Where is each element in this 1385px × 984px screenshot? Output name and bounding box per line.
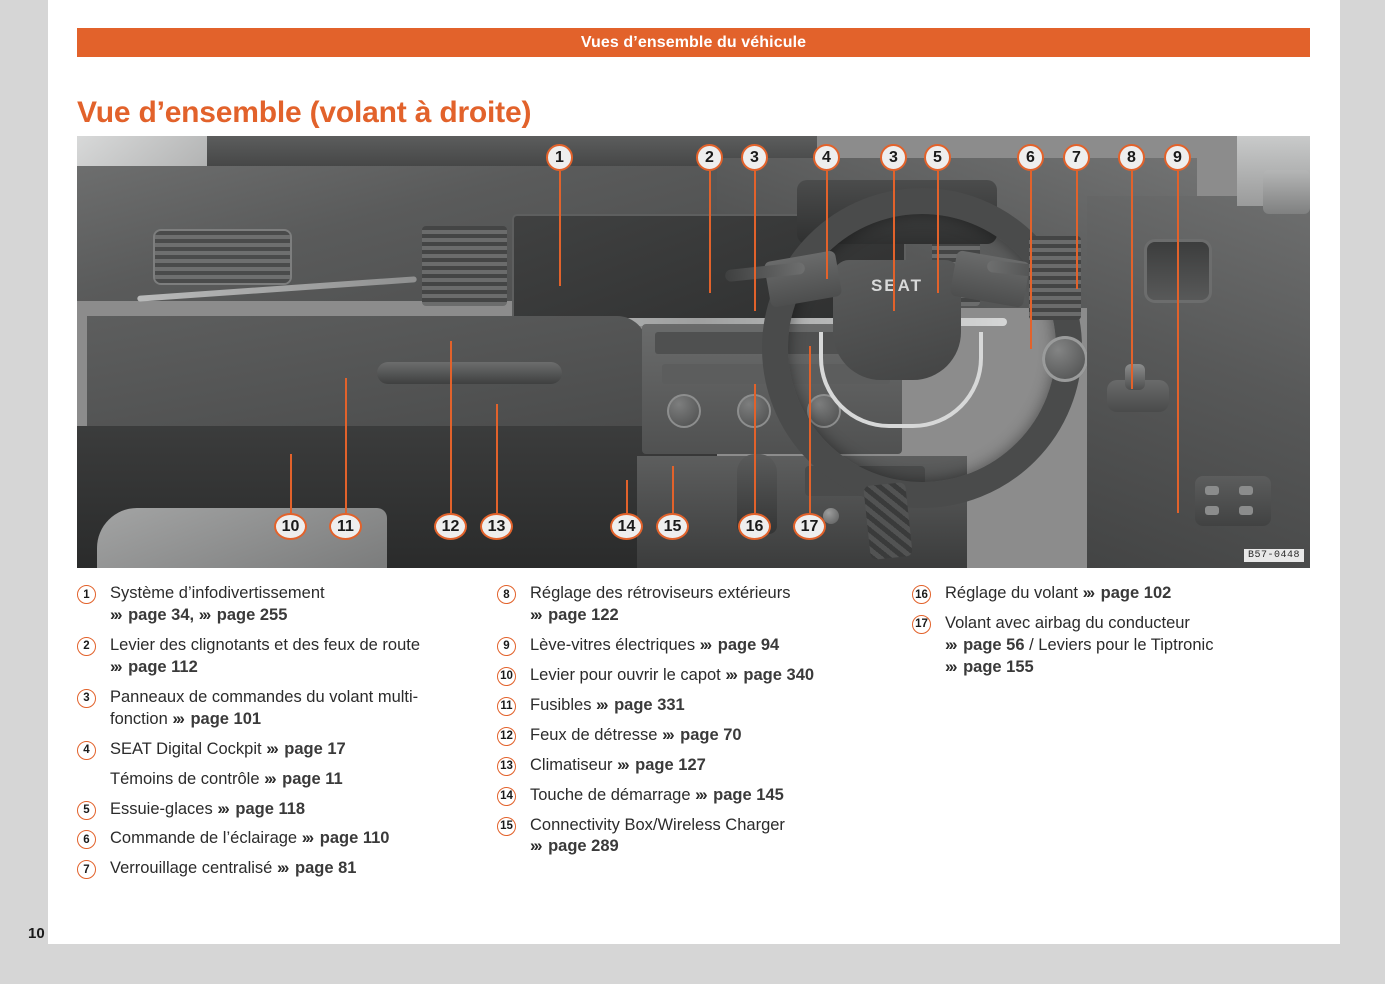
legend-number-badge-1: 1 (77, 585, 96, 604)
page-reference-link[interactable]: ››› page 81 (277, 859, 357, 877)
climate-knob-left (667, 394, 701, 428)
chevron-right-icon: ››› (617, 756, 627, 774)
chevron-right-icon: ››› (110, 658, 120, 676)
page-reference-link[interactable]: ››› page 122 (530, 606, 619, 624)
running-head-title: Vues d’ensemble du véhicule (581, 34, 806, 52)
legend-label: Climatiseur (530, 756, 617, 774)
callout-leader-line (672, 466, 674, 513)
legend-text-line: Réglage des rétroviseurs extérieurs (530, 583, 790, 605)
page-reference-link[interactable]: ››› page 340 (725, 666, 814, 684)
legend-text-line: fonction ››› page 101 (110, 709, 418, 731)
legend-label: Levier des clignotants et des feux de ro… (110, 636, 420, 654)
legend-number-badge-17: 17 (912, 615, 931, 634)
legend-number-placeholder (77, 771, 96, 790)
legend-item-14[interactable]: 14Touche de démarrage ››› page 145 (497, 785, 912, 807)
legend-text-line: Essuie-glaces ››› page 118 (110, 799, 305, 821)
legend-label: Levier pour ouvrir le capot (530, 666, 725, 684)
legend-text-line: Levier pour ouvrir le capot ››› page 340 (530, 665, 814, 687)
legend-item-1[interactable]: 1Système d’infodivertissement››› page 34… (77, 583, 497, 627)
legend-text-line: ››› page 122 (530, 605, 790, 627)
chevron-right-icon: ››› (530, 606, 540, 624)
window-switch-panel (1195, 476, 1271, 526)
page-number: 10 (28, 925, 45, 942)
legend-label: Touche de démarrage (530, 786, 695, 804)
legend-text-line: Climatiseur ››› page 127 (530, 755, 706, 777)
callout-leader-line (1131, 171, 1133, 389)
photo-callout-2-top: 2 (696, 144, 723, 171)
page-reference-link[interactable]: ››› page 118 (217, 800, 305, 818)
legend-item-6[interactable]: 6Commande de l’éclairage ››› page 110 (77, 828, 497, 850)
legend-label: Panneaux de commandes du volant multi- (110, 688, 418, 706)
legend-item-17[interactable]: 17Volant avec airbag du conducteur››› pa… (912, 613, 1310, 679)
legend-item-9[interactable]: 9Lève-vitres électriques ››› page 94 (497, 635, 912, 657)
chevron-right-icon: ››› (945, 636, 955, 654)
legend-label: Feux de détresse (530, 726, 662, 744)
legend-label: Réglage du volant (945, 584, 1083, 602)
start-button-icon (823, 508, 839, 524)
legend-number-badge-10: 10 (497, 667, 516, 686)
legend-label: Système d’infodivertissement (110, 584, 325, 602)
legend-text-line: SEAT Digital Cockpit ››› page 17 (110, 739, 346, 761)
legend-item-4[interactable]: 4SEAT Digital Cockpit ››› page 17 (77, 739, 497, 761)
legend-item-text: Feux de détresse ››› page 70 (530, 725, 742, 747)
legend-item-text: Réglage du volant ››› page 102 (945, 583, 1171, 605)
glovebox-handle (377, 362, 562, 384)
photo-callout-16-bottom: 16 (738, 513, 771, 540)
legend-number-badge-9: 9 (497, 637, 516, 656)
legend-text-line: ››› page 34, ››› page 255 (110, 605, 325, 627)
photo-callout-3-top: 3 (741, 144, 768, 171)
legend-item-text: Volant avec airbag du conducteur››› page… (945, 613, 1213, 679)
page-reference-link[interactable]: ››› page 101 (172, 710, 261, 728)
photo-callout-10-bottom: 10 (274, 513, 307, 540)
air-vent-right-icon (1029, 236, 1081, 320)
legend-item-15[interactable]: 15Connectivity Box/Wireless Charger››› p… (497, 815, 912, 859)
chevron-right-icon: ››› (945, 658, 955, 676)
chevron-right-icon: ››› (266, 740, 276, 758)
photo-callout-8-top: 8 (1118, 144, 1145, 171)
page-reference-link[interactable]: ››› page 34, (110, 606, 194, 624)
photo-callout-15-bottom: 15 (656, 513, 689, 540)
photo-callout-14-bottom: 14 (610, 513, 643, 540)
chevron-right-icon: ››› (217, 800, 227, 818)
legend-item-13[interactable]: 13Climatiseur ››› page 127 (497, 755, 912, 777)
callout-leader-line (1177, 171, 1179, 513)
callout-leader-line (496, 404, 498, 513)
legend-item-text: Commande de l’éclairage ››› page 110 (110, 828, 389, 850)
legend-item-text: Lève-vitres électriques ››› page 94 (530, 635, 779, 657)
legend-number-badge-13: 13 (497, 757, 516, 776)
legend-column-1: 1Système d’infodivertissement››› page 34… (77, 583, 497, 888)
legend-text-line: Panneaux de commandes du volant multi- (110, 687, 418, 709)
mirror-adjust-knob (1125, 364, 1145, 390)
callout-leader-line (345, 378, 347, 513)
legend-number-badge-15: 15 (497, 817, 516, 836)
chevron-right-icon: ››› (725, 666, 735, 684)
legend-item-text: Climatiseur ››› page 127 (530, 755, 706, 777)
legend-item-text: Système d’infodivertissement››› page 34,… (110, 583, 325, 627)
callout-leader-line (626, 480, 628, 513)
page-reference-link[interactable]: ››› page 331 (596, 696, 685, 714)
legend-label: Réglage des rétroviseurs extérieurs (530, 584, 790, 602)
legend-text-line: ››› page 155 (945, 657, 1213, 679)
legend-item-10[interactable]: 10Levier pour ouvrir le capot ››› page 3… (497, 665, 912, 687)
callout-leader-line (709, 171, 711, 293)
legend-item-text: Témoins de contrôle ››› page 11 (110, 769, 343, 791)
legend-item-text: Touche de démarrage ››› page 145 (530, 785, 784, 807)
photo-callout-6-top: 6 (1017, 144, 1044, 171)
legend-item-continuation[interactable]: Témoins de contrôle ››› page 11 (77, 769, 497, 791)
photo-callout-5-top: 5 (924, 144, 951, 171)
page-reference-link[interactable]: ››› page 110 (302, 829, 390, 847)
legend-text-line: Commande de l’éclairage ››› page 110 (110, 828, 389, 850)
legend-label: Verrouillage centralisé (110, 859, 277, 877)
legend-item-text: Levier des clignotants et des feux de ro… (110, 635, 420, 679)
legend-label: SEAT Digital Cockpit (110, 740, 266, 758)
chevron-right-icon: ››› (277, 859, 287, 877)
legend-text-line: Connectivity Box/Wireless Charger (530, 815, 785, 837)
legend-text-line: Levier des clignotants et des feux de ro… (110, 635, 420, 657)
callout-leader-line (1030, 171, 1032, 349)
legend-label: Volant avec airbag du conducteur (945, 614, 1190, 632)
legend-column-2: 8Réglage des rétroviseurs extérieurs››› … (497, 583, 912, 888)
callout-leader-line (809, 346, 811, 513)
legend-number-badge-8: 8 (497, 585, 516, 604)
legend-label: Commande de l’éclairage (110, 829, 302, 847)
pedal (863, 482, 913, 560)
page-reference-link[interactable]: ››› page 94 (700, 636, 780, 654)
chevron-right-icon: ››› (700, 636, 710, 654)
legend-label-tail: / Leviers pour le Tiptronic (1025, 636, 1214, 654)
page-reference-link[interactable]: ››› page 11 (264, 770, 343, 788)
chevron-right-icon: ››› (1083, 584, 1093, 602)
legend-item-text: Connectivity Box/Wireless Charger››› pag… (530, 815, 785, 859)
legend-item-text: Panneaux de commandes du volant multi-fo… (110, 687, 418, 731)
legend-item-2[interactable]: 2Levier des clignotants et des feux de r… (77, 635, 497, 679)
photo-callout-11-bottom: 11 (329, 513, 362, 540)
window-switch-1 (1205, 486, 1219, 495)
callout-leader-line (290, 454, 292, 513)
exterior-mirror (1263, 170, 1310, 214)
window-switch-3 (1205, 506, 1219, 515)
seat-logo: SEAT (865, 276, 929, 298)
callout-leader-line (826, 171, 828, 279)
photo-artwork: SEAT (77, 136, 1310, 568)
legend-number-badge-3: 3 (77, 689, 96, 708)
legend-number-badge-14: 14 (497, 787, 516, 806)
legend-item-5[interactable]: 5Essuie-glaces ››› page 118 (77, 799, 497, 821)
page-reference-link[interactable]: ››› page 145 (695, 786, 784, 804)
page-reference-link[interactable]: ››› page 155 (945, 658, 1034, 676)
legend-text-line: Feux de détresse ››› page 70 (530, 725, 742, 747)
legend-number-badge-6: 6 (77, 830, 96, 849)
legend-label: Fusibles (530, 696, 596, 714)
running-head-bar: Vues d’ensemble du véhicule (77, 28, 1310, 57)
legend-item-12[interactable]: 12Feux de détresse ››› page 70 (497, 725, 912, 747)
legend-item-text: Levier pour ouvrir le capot ››› page 340 (530, 665, 814, 687)
photo-callout-1-top: 1 (546, 144, 573, 171)
chevron-right-icon: ››› (530, 837, 540, 855)
legend-label: Témoins de contrôle (110, 770, 264, 788)
legend-number-badge-7: 7 (77, 860, 96, 879)
page-reference-link[interactable]: ››› page 112 (110, 658, 198, 676)
legend-item-text: SEAT Digital Cockpit ››› page 17 (110, 739, 346, 761)
legend-text-line: Réglage du volant ››› page 102 (945, 583, 1171, 605)
legend-number-badge-2: 2 (77, 637, 96, 656)
legend-label: Connectivity Box/Wireless Charger (530, 816, 785, 834)
page-title: Vue d’ensemble (volant à droite) (77, 96, 531, 130)
legend-number-badge-4: 4 (77, 741, 96, 760)
callout-leader-line (937, 171, 939, 293)
legend-text-line: Verrouillage centralisé ››› page 81 (110, 858, 356, 880)
photo-callout-4-top: 4 (813, 144, 840, 171)
glovebox (87, 316, 647, 436)
chevron-right-icon: ››› (596, 696, 606, 714)
legend-item-text: Fusibles ››› page 331 (530, 695, 685, 717)
callout-leader-line (893, 171, 895, 311)
callout-leader-line (754, 384, 756, 513)
legend-text-line: ››› page 56 / Leviers pour le Tiptronic (945, 635, 1213, 657)
callout-leader-line (1076, 171, 1078, 289)
photo-reference-code: B57-0448 (1244, 549, 1304, 562)
air-vent-left-icon (155, 231, 290, 283)
page-reference-link[interactable]: ››› page 70 (662, 726, 742, 744)
legend: 1Système d’infodivertissement››› page 34… (77, 583, 1310, 888)
page-reference-link[interactable]: ››› page 102 (1083, 584, 1172, 602)
chevron-right-icon: ››› (695, 786, 705, 804)
legend-label: fonction (110, 710, 172, 728)
chevron-right-icon: ››› (302, 829, 312, 847)
chevron-right-icon: ››› (662, 726, 672, 744)
light-switch-knob (1042, 336, 1088, 382)
legend-text-line: Lève-vitres électriques ››› page 94 (530, 635, 779, 657)
legend-label: Essuie-glaces (110, 800, 217, 818)
legend-text-line: ››› page 289 (530, 836, 785, 858)
photo-callout-13-bottom: 13 (480, 513, 513, 540)
callout-leader-line (754, 171, 756, 311)
legend-item-text: Verrouillage centralisé ››› page 81 (110, 858, 356, 880)
window-switch-2 (1239, 486, 1253, 495)
page-reference-link[interactable]: ››› page 56 (945, 636, 1025, 654)
photo-callout-17-bottom: 17 (793, 513, 826, 540)
legend-item-text: Essuie-glaces ››› page 118 (110, 799, 305, 821)
legend-text-line: Touche de démarrage ››› page 145 (530, 785, 784, 807)
legend-number-badge-5: 5 (77, 801, 96, 820)
page-reference-link[interactable]: ››› page 127 (617, 756, 706, 774)
page-reference-link[interactable]: ››› page 17 (266, 740, 346, 758)
photo-callout-12-bottom: 12 (434, 513, 467, 540)
window-switch-4 (1239, 506, 1253, 515)
photo-callout-7-top: 7 (1063, 144, 1090, 171)
legend-item-3[interactable]: 3Panneaux de commandes du volant multi-f… (77, 687, 497, 731)
legend-number-badge-12: 12 (497, 727, 516, 746)
callout-leader-line (559, 171, 561, 286)
legend-text-line: Témoins de contrôle ››› page 11 (110, 769, 343, 791)
vehicle-interior-photo: SEAT B57-0448 12343567891011121314151617 (77, 136, 1310, 568)
legend-item-8[interactable]: 8Réglage des rétroviseurs extérieurs››› … (497, 583, 912, 627)
legend-number-badge-11: 11 (497, 697, 516, 716)
legend-text-line: ››› page 112 (110, 657, 420, 679)
chevron-right-icon: ››› (110, 606, 120, 624)
legend-column-3: 16Réglage du volant ››› page 10217Volant… (912, 583, 1310, 888)
photo-callout-3-top: 3 (880, 144, 907, 171)
page-sheet: Vues d’ensemble du véhicule Vue d’ensemb… (48, 0, 1340, 944)
legend-number-badge-16: 16 (912, 585, 931, 604)
legend-item-16[interactable]: 16Réglage du volant ››› page 102 (912, 583, 1310, 605)
page-reference-link[interactable]: ››› page 255 (199, 606, 288, 624)
legend-text-line: Système d’infodivertissement (110, 583, 325, 605)
air-vent-center-icon (422, 226, 507, 306)
legend-text-line: Fusibles ››› page 331 (530, 695, 685, 717)
callout-leader-line (450, 341, 452, 513)
legend-item-7[interactable]: 7Verrouillage centralisé ››› page 81 (77, 858, 497, 880)
chevron-right-icon: ››› (264, 770, 274, 788)
photo-callout-9-top: 9 (1164, 144, 1191, 171)
legend-text-line: Volant avec airbag du conducteur (945, 613, 1213, 635)
page-reference-link[interactable]: ››› page 289 (530, 837, 619, 855)
legend-label: Lève-vitres électriques (530, 636, 700, 654)
chevron-right-icon: ››› (172, 710, 182, 728)
chevron-right-icon: ››› (199, 606, 209, 624)
legend-item-11[interactable]: 11Fusibles ››› page 331 (497, 695, 912, 717)
legend-item-text: Réglage des rétroviseurs extérieurs››› p… (530, 583, 790, 627)
